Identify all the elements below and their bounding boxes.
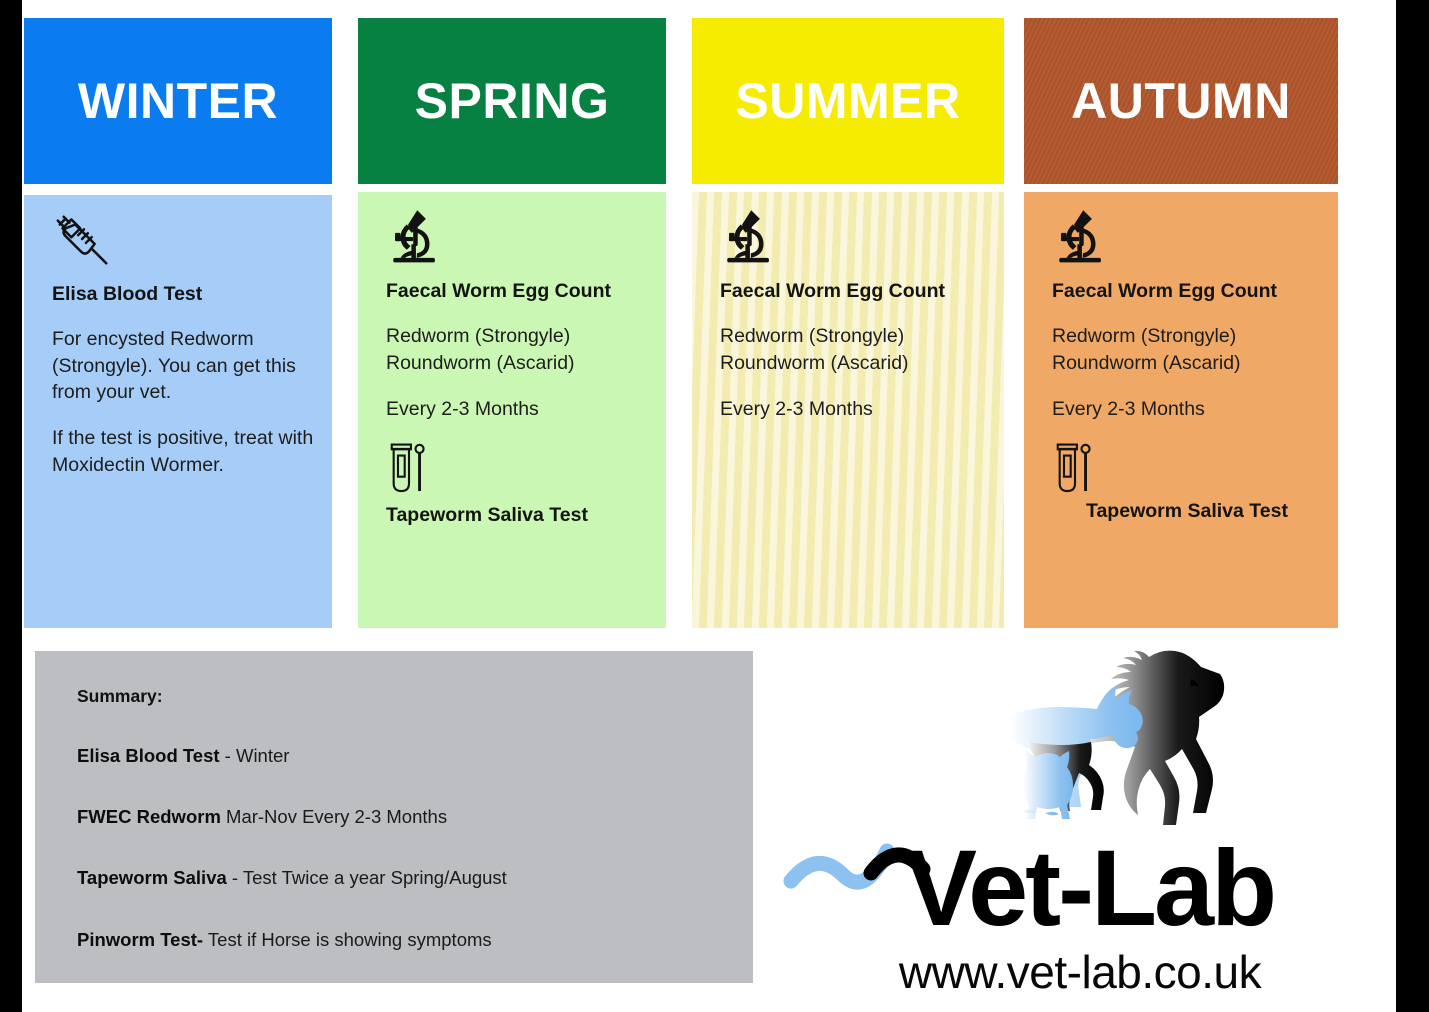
summary-line-fwec: FWEC Redworm Mar-Nov Every 2-3 Months <box>77 806 753 828</box>
test-tube-icon <box>1052 440 1320 498</box>
sub-test-name-autumn: Tapeworm Saliva Test <box>1086 500 1320 523</box>
summary-label-fwec: FWEC Redworm <box>77 806 221 827</box>
season-header-autumn: AUTUMN <box>1024 18 1338 184</box>
syringe-icon <box>52 209 314 283</box>
test-tube-icon <box>386 440 648 502</box>
microscope-icon <box>1052 206 1320 280</box>
season-body-autumn: Faecal Worm Egg Count Redworm (Strongyle… <box>1024 192 1338 628</box>
bottom-white-strip <box>22 1003 1396 1012</box>
body-paragraph-autumn-1: Redworm (Strongyle) Roundworm (Ascarid) <box>1052 323 1320 376</box>
body-paragraph-winter-2: If the test is positive, treat with Moxi… <box>52 425 314 478</box>
summary-line-pinworm: Pinworm Test- Test if Horse is showing s… <box>77 929 753 951</box>
season-title-autumn: AUTUMN <box>1071 76 1291 126</box>
website-url: www.vet-lab.co.uk <box>775 945 1385 999</box>
season-title-spring: SPRING <box>415 76 610 126</box>
summary-value-pinworm: Test if Horse is showing symptoms <box>203 929 492 950</box>
body-paragraph-autumn-2: Every 2-3 Months <box>1052 396 1320 422</box>
vet-lab-wordmark: Vet-Lab <box>775 835 1385 940</box>
summary-label-tapeworm: Tapeworm Saliva <box>77 867 227 888</box>
summary-heading: Summary: <box>77 686 753 707</box>
svg-text:Vet-Lab: Vet-Lab <box>905 835 1274 940</box>
test-name-winter: Elisa Blood Test <box>52 283 314 306</box>
running-animals-icon <box>1005 645 1235 835</box>
summary-panel: Summary: Elisa Blood Test - Winter FWEC … <box>35 651 753 983</box>
test-name-summer: Faecal Worm Egg Count <box>720 280 986 303</box>
microscope-icon <box>386 206 648 280</box>
microscope-icon <box>720 206 986 280</box>
body-paragraph-winter-1: For encysted Redworm (Strongyle). You ca… <box>52 326 314 405</box>
summary-line-elisa: Elisa Blood Test - Winter <box>77 745 753 767</box>
season-header-summer: SUMMER <box>692 18 1004 184</box>
season-body-winter: Elisa Blood Test For encysted Redworm (S… <box>24 195 332 628</box>
body-paragraph-summer-2: Every 2-3 Months <box>720 396 986 422</box>
vet-lab-logo: Vet-Lab www.vet-lab.co.uk <box>775 645 1385 1007</box>
season-body-summer: Faecal Worm Egg Count Redworm (Strongyle… <box>692 192 1004 628</box>
summary-label-elisa: Elisa Blood Test <box>77 745 220 766</box>
season-title-summer: SUMMER <box>735 76 960 126</box>
summary-value-tapeworm: - Test Twice a year Spring/August <box>227 867 507 888</box>
season-body-spring: Faecal Worm Egg Count Redworm (Strongyle… <box>358 192 666 628</box>
summary-line-tapeworm: Tapeworm Saliva - Test Twice a year Spri… <box>77 867 753 889</box>
body-paragraph-spring-2: Every 2-3 Months <box>386 396 648 422</box>
summary-value-elisa: - Winter <box>220 745 290 766</box>
summary-value-fwec: Mar-Nov Every 2-3 Months <box>221 806 447 827</box>
season-header-winter: WINTER <box>24 18 332 184</box>
test-name-spring: Faecal Worm Egg Count <box>386 280 648 303</box>
left-letterbox-band <box>0 0 22 1012</box>
test-name-autumn: Faecal Worm Egg Count <box>1052 280 1320 303</box>
summary-label-pinworm: Pinworm Test- <box>77 929 203 950</box>
sub-test-name-spring: Tapeworm Saliva Test <box>386 504 648 527</box>
season-header-spring: SPRING <box>358 18 666 184</box>
body-paragraph-spring-1: Redworm (Strongyle) Roundworm (Ascarid) <box>386 323 648 376</box>
body-paragraph-summer-1: Redworm (Strongyle) Roundworm (Ascarid) <box>720 323 986 376</box>
right-letterbox-band <box>1396 0 1429 1012</box>
season-title-winter: WINTER <box>78 76 278 126</box>
